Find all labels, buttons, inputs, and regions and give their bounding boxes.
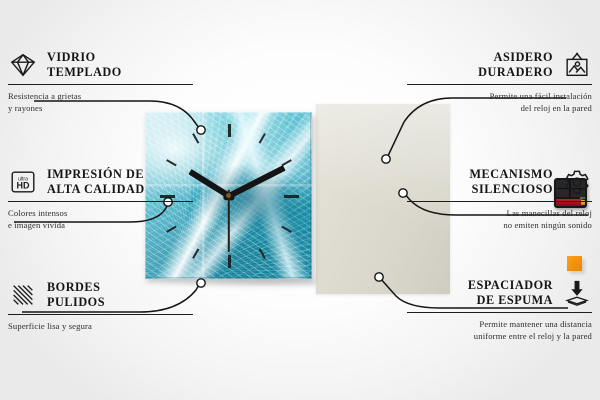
feature-title: IMPRESIÓN DE ALTA CALIDAD (47, 167, 145, 197)
feature-desc-line2: no emiten ningún sonido (407, 219, 592, 231)
feature-title-line2: TEMPLADO (47, 65, 122, 80)
feature-divider (8, 84, 193, 85)
feature-foam-spacer: ESPACIADOR DE ESPUMA Permite mantener un… (407, 278, 592, 343)
feature-description: Superficie lisa y segura (8, 320, 193, 332)
feature-title-line1: ESPACIADOR (468, 278, 553, 293)
feature-title-line2: DE ESPUMA (468, 293, 553, 308)
feature-description: Resistencia a grietas y rayones (8, 90, 193, 114)
feature-description: Colores intensos e imagen vívida (8, 207, 193, 231)
feature-desc-line2: e imagen vívida (8, 219, 193, 231)
feature-divider (407, 201, 592, 202)
feature-divider (407, 312, 592, 313)
infographic-stage: VIDRIO TEMPLADO Resistencia a grietas y … (0, 0, 600, 400)
feature-header: ASIDERO DURADERO (407, 50, 592, 80)
feature-desc-line1: Permite una fácil instalación (407, 90, 592, 102)
feature-desc-line2: del reloj en la pared (407, 102, 592, 114)
feature-title: ESPACIADOR DE ESPUMA (468, 278, 553, 308)
feature-title-line1: BORDES (47, 280, 105, 295)
foam-spacer (567, 256, 582, 271)
feature-description: Permite mantener una distancia uniforme … (407, 318, 592, 342)
feature-header: ultra HD IMPRESIÓN DE ALTA CALIDAD (8, 167, 193, 197)
feature-divider (407, 84, 592, 85)
feature-hanger: ASIDERO DURADERO Permite una fácil insta… (407, 50, 592, 115)
feature-title: VIDRIO TEMPLADO (47, 50, 122, 80)
feature-description: Permite una fácil instalación del reloj … (407, 90, 592, 114)
feature-header: BORDES PULIDOS (8, 280, 193, 310)
framed-picture-hanging-icon (562, 50, 592, 80)
feature-title-line1: IMPRESIÓN DE (47, 167, 145, 182)
feature-desc-line1: Colores intensos (8, 207, 193, 219)
feature-title-line2: PULIDOS (47, 295, 105, 310)
feature-header: MECANISMO SILENCIOSO (407, 167, 592, 197)
feature-header: VIDRIO TEMPLADO (8, 50, 193, 80)
feature-divider (8, 201, 193, 202)
feature-tempered-glass: VIDRIO TEMPLADO Resistencia a grietas y … (8, 50, 193, 115)
feature-title-line1: ASIDERO (478, 50, 553, 65)
feature-title-line1: MECANISMO (470, 167, 554, 182)
feature-title-line2: ALTA CALIDAD (47, 182, 145, 197)
feature-desc-line1: Permite mantener una distancia (407, 318, 592, 330)
feature-description: Las manecillas del reloj no emiten ningú… (407, 207, 592, 231)
feature-title-line2: SILENCIOSO (470, 182, 554, 197)
diamond-icon (8, 50, 38, 80)
feature-desc-line2: uniforme entre el reloj y la pared (407, 330, 592, 342)
feature-header: ESPACIADOR DE ESPUMA (407, 278, 592, 308)
feature-desc-line1: Superficie lisa y segura (8, 320, 193, 332)
ultra-hd-badge-icon: ultra HD (8, 167, 38, 197)
feature-desc-line1: Las manecillas del reloj (407, 207, 592, 219)
feature-print-quality: ultra HD IMPRESIÓN DE ALTA CALIDAD Color… (8, 167, 193, 232)
feature-divider (8, 314, 193, 315)
feature-desc-line2: y rayones (8, 102, 193, 114)
feature-silent-mechanism: MECANISMO SILENCIOSO Las manecillas del … (407, 167, 592, 232)
feature-title-line2: DURADERO (478, 65, 553, 80)
ultra-hd-badge-large-text: HD (17, 181, 30, 191)
feature-title: MECANISMO SILENCIOSO (470, 167, 554, 197)
feature-polished-edges: BORDES PULIDOS Superficie lisa y segura (8, 280, 193, 332)
feature-title-line1: VIDRIO (47, 50, 122, 65)
foam-spacer-arrow-icon (562, 278, 592, 308)
feature-title: ASIDERO DURADERO (478, 50, 553, 80)
feature-title: BORDES PULIDOS (47, 280, 105, 310)
polished-edge-hatch-icon (8, 280, 38, 310)
feature-desc-line1: Resistencia a grietas (8, 90, 193, 102)
gear-icon (562, 167, 592, 197)
